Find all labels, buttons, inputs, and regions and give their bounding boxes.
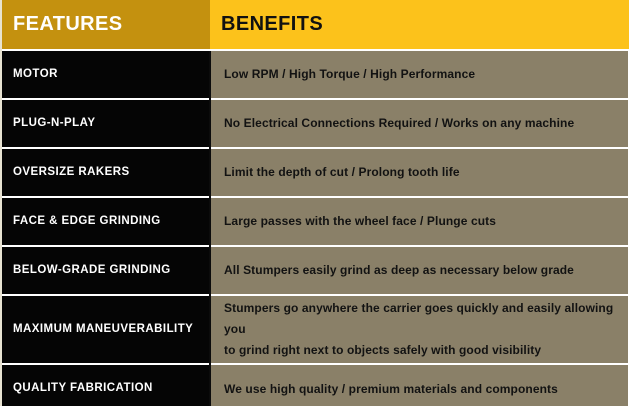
table-row: OVERSIZE RAKERS Limit the depth of cut /… xyxy=(1,148,629,197)
column-header-features: FEATURES xyxy=(1,0,210,50)
feature-cell: OVERSIZE RAKERS xyxy=(1,148,210,197)
benefit-cell: Large passes with the wheel face / Plung… xyxy=(210,197,629,246)
benefit-line: No Electrical Connections Required / Wor… xyxy=(224,113,618,134)
table-row: QUALITY FABRICATION We use high quality … xyxy=(1,364,629,406)
table-row: MAXIMUM MANEUVERABILITY Stumpers go anyw… xyxy=(1,295,629,364)
benefit-cell: We use high quality / premium materials … xyxy=(210,364,629,406)
feature-cell: FACE & EDGE GRINDING xyxy=(1,197,210,246)
table-grid: FEATURES BENEFITS MOTOR Low RPM / High T… xyxy=(0,0,629,406)
features-benefits-table: FEATURES BENEFITS MOTOR Low RPM / High T… xyxy=(0,0,629,406)
benefit-line: All Stumpers easily grind as deep as nec… xyxy=(224,260,618,281)
benefit-line: We use high quality / premium materials … xyxy=(224,379,618,400)
benefit-line: Low RPM / High Torque / High Performance xyxy=(224,64,618,85)
table-row: PLUG-N-PLAY No Electrical Connections Re… xyxy=(1,99,629,148)
benefit-cell: Low RPM / High Torque / High Performance xyxy=(210,50,629,99)
column-header-benefits: BENEFITS xyxy=(210,0,629,50)
feature-cell: BELOW-GRADE GRINDING xyxy=(1,246,210,295)
table-header-row: FEATURES BENEFITS xyxy=(1,0,629,50)
benefit-line: Large passes with the wheel face / Plung… xyxy=(224,211,618,232)
table-row: BELOW-GRADE GRINDING All Stumpers easily… xyxy=(1,246,629,295)
feature-cell: MOTOR xyxy=(1,50,210,99)
benefit-line: to grind right next to objects safely wi… xyxy=(224,340,618,361)
benefit-cell: Limit the depth of cut / Prolong tooth l… xyxy=(210,148,629,197)
benefit-line: Stumpers go anywhere the carrier goes qu… xyxy=(224,298,618,340)
benefit-line: Limit the depth of cut / Prolong tooth l… xyxy=(224,162,618,183)
feature-cell: MAXIMUM MANEUVERABILITY xyxy=(1,295,210,364)
benefit-cell: All Stumpers easily grind as deep as nec… xyxy=(210,246,629,295)
benefit-cell: No Electrical Connections Required / Wor… xyxy=(210,99,629,148)
table-row: MOTOR Low RPM / High Torque / High Perfo… xyxy=(1,50,629,99)
table-row: FACE & EDGE GRINDING Large passes with t… xyxy=(1,197,629,246)
feature-cell: QUALITY FABRICATION xyxy=(1,364,210,406)
feature-cell: PLUG-N-PLAY xyxy=(1,99,210,148)
benefit-cell: Stumpers go anywhere the carrier goes qu… xyxy=(210,295,629,364)
